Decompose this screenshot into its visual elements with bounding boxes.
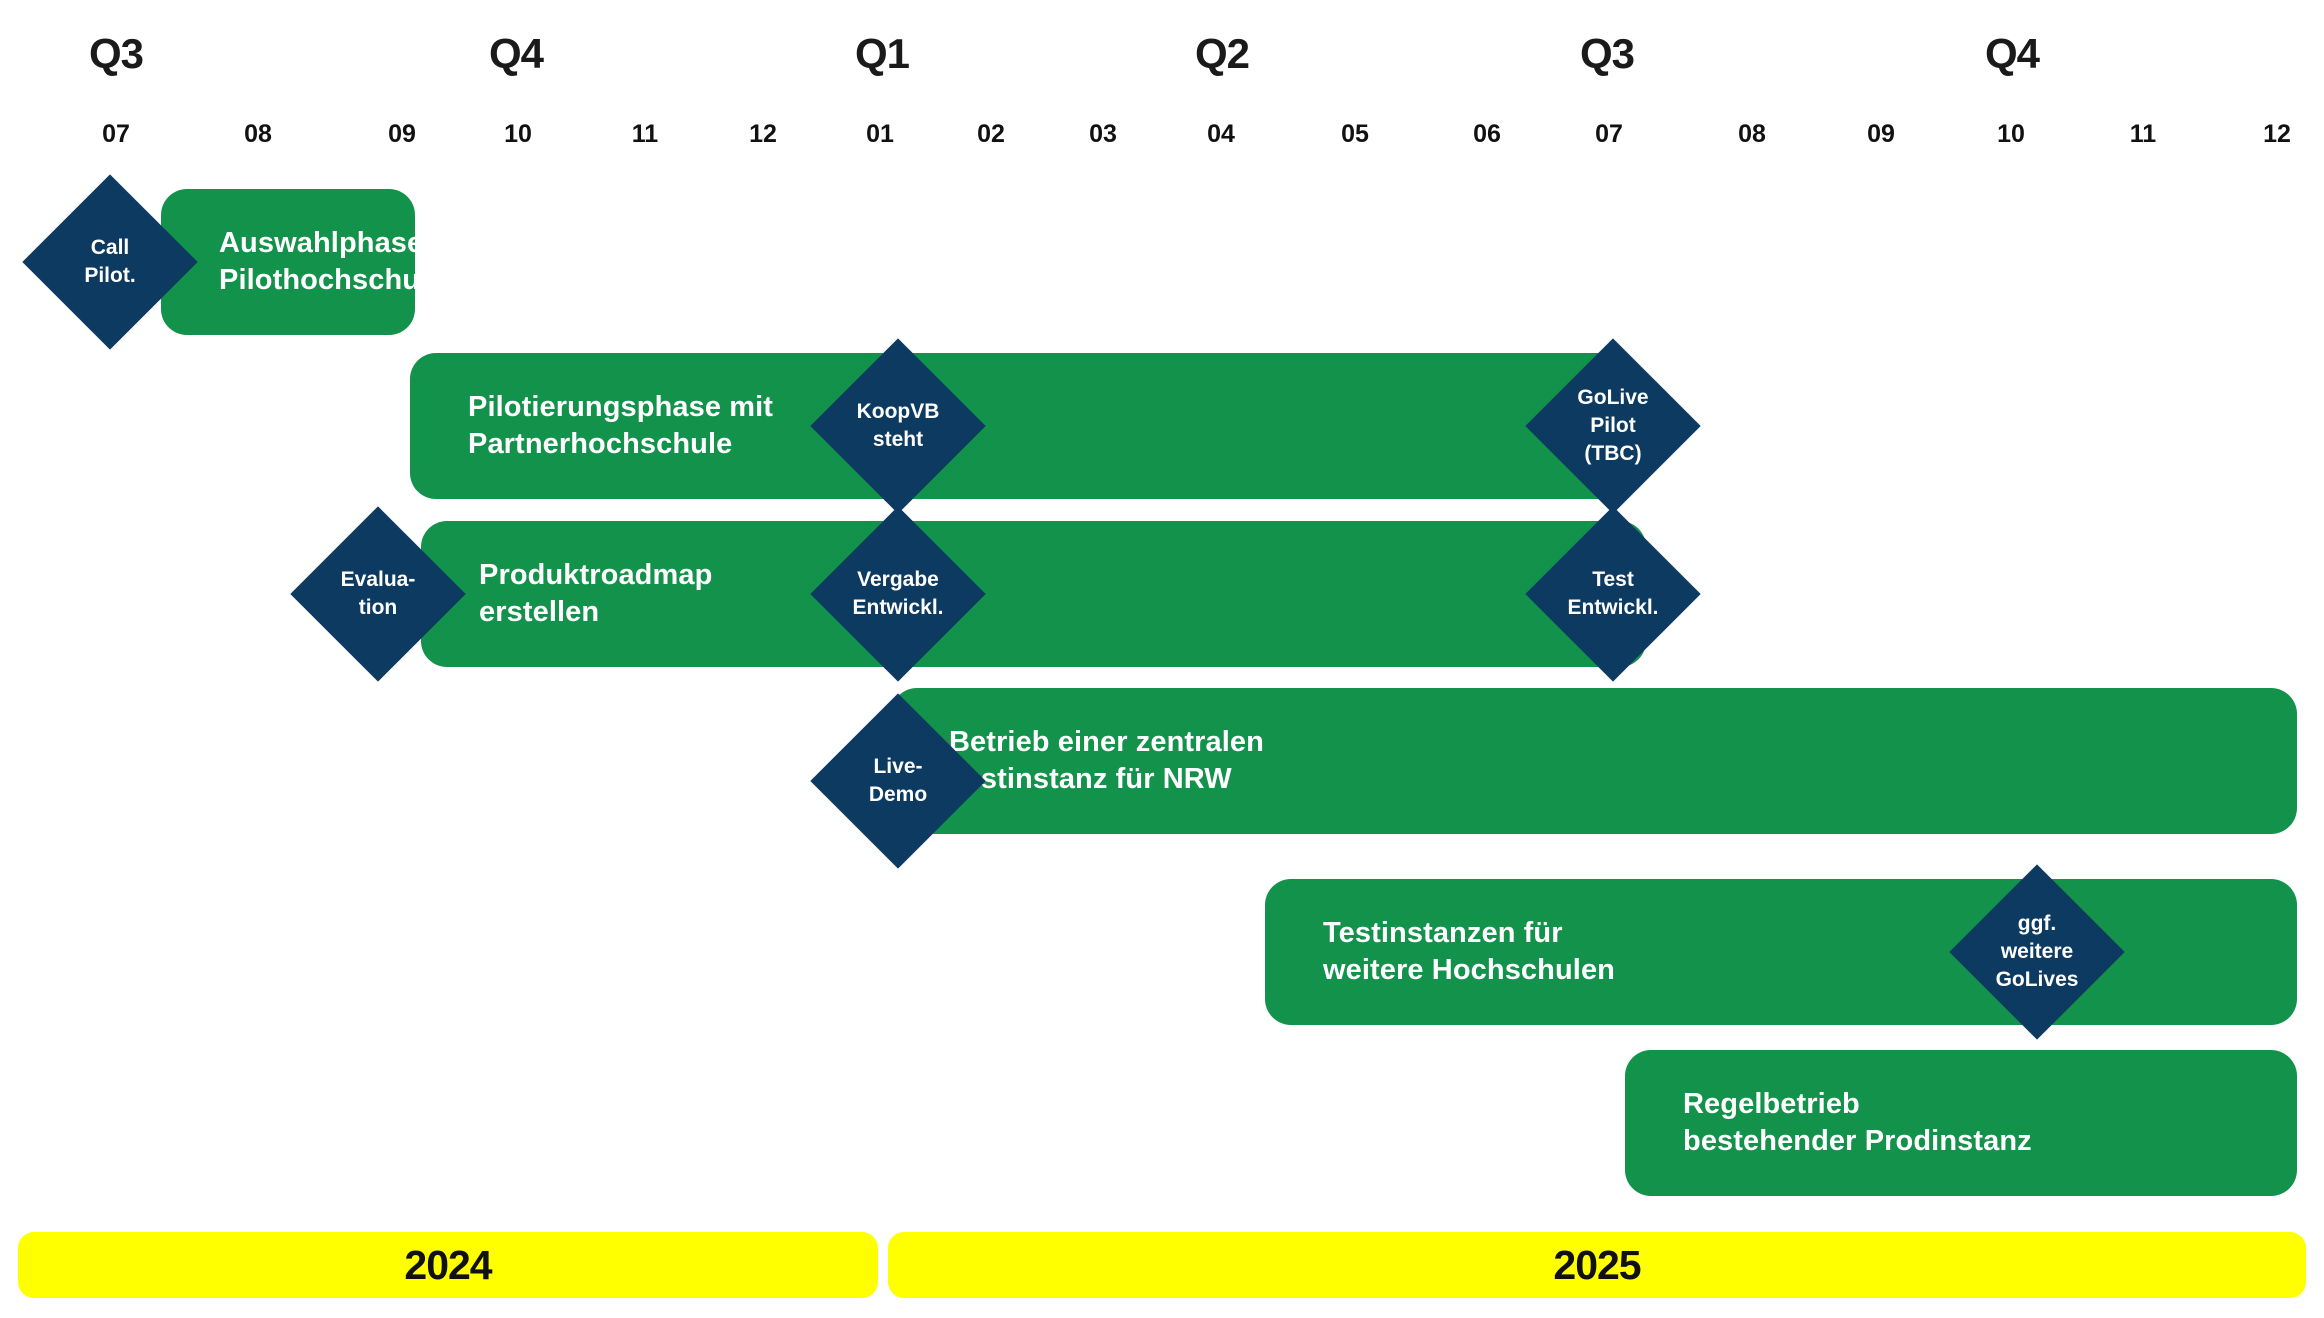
roadmap-timeline: Q3Q4Q1Q2Q3Q4 070809101112010203040506070…	[0, 0, 2324, 1318]
milestone-inner: Live- Demo	[836, 719, 960, 843]
milestone-diamond[interactable]: Test Entwickl.	[1525, 506, 1700, 681]
quarter-label: Q4	[489, 30, 543, 78]
milestone-label: KoopVB steht	[857, 398, 940, 453]
month-label: 01	[866, 120, 894, 149]
milestone-label: Test Entwickl.	[1567, 566, 1658, 621]
quarter-label: Q1	[855, 30, 909, 78]
month-label: 06	[1473, 120, 1501, 149]
milestone-inner: GoLive Pilot (TBC)	[1551, 364, 1675, 488]
milestone-diamond[interactable]: Live- Demo	[810, 693, 985, 868]
task-bar-label: Regelbetrieb bestehender Prodinstanz	[1625, 1086, 2032, 1159]
milestone-label: Evalua- tion	[341, 566, 416, 621]
month-label: 04	[1207, 120, 1235, 149]
milestone-diamond[interactable]: Call Pilot.	[22, 174, 197, 349]
month-label: 07	[1595, 120, 1623, 149]
month-label: 10	[1997, 120, 2025, 149]
month-label: 09	[1867, 120, 1895, 149]
month-label: 10	[504, 120, 532, 149]
milestone-diamond[interactable]: ggf. weitere GoLives	[1949, 864, 2124, 1039]
month-label: 09	[388, 120, 416, 149]
task-bar[interactable]: Auswahlphase Pilothochschule	[161, 189, 415, 335]
year-bar[interactable]: 2025	[888, 1232, 2306, 1298]
milestone-label: ggf. weitere GoLives	[1996, 910, 2079, 993]
month-label: 02	[977, 120, 1005, 149]
quarter-label: Q3	[89, 30, 143, 78]
year-bar[interactable]: 2024	[18, 1232, 878, 1298]
month-label: 07	[102, 120, 130, 149]
task-bar[interactable]: Testinstanzen für weitere Hochschulen	[1265, 879, 2297, 1025]
task-bar-label: Testinstanzen für weitere Hochschulen	[1265, 915, 1615, 988]
milestone-label: Vergabe Entwickl.	[852, 566, 943, 621]
month-label: 12	[749, 120, 777, 149]
quarter-label: Q4	[1985, 30, 2039, 78]
month-label: 08	[244, 120, 272, 149]
milestone-inner: Test Entwickl.	[1551, 532, 1675, 656]
milestone-inner: KoopVB steht	[836, 364, 960, 488]
milestone-inner: Call Pilot.	[48, 200, 172, 324]
year-label: 2024	[404, 1242, 491, 1289]
year-label: 2025	[1553, 1242, 1640, 1289]
month-label: 11	[2130, 120, 2156, 149]
task-bar[interactable]: Produktroadmap erstellen	[421, 521, 1646, 667]
milestone-label: GoLive Pilot (TBC)	[1577, 384, 1648, 467]
milestone-diamond[interactable]: KoopVB steht	[810, 338, 985, 513]
quarter-label: Q2	[1195, 30, 1249, 78]
milestone-diamond[interactable]: Vergabe Entwickl.	[810, 506, 985, 681]
task-bar[interactable]: Pilotierungsphase mit Partnerhochschule	[410, 353, 1635, 499]
milestone-label: Call Pilot.	[84, 234, 135, 289]
task-bar[interactable]: Betrieb einer zentralen Testinstanz für …	[891, 688, 2297, 834]
milestone-diamond[interactable]: Evalua- tion	[290, 506, 465, 681]
milestone-inner: ggf. weitere GoLives	[1975, 890, 2099, 1014]
task-bar-label: Auswahlphase Pilothochschule	[161, 225, 444, 298]
milestone-inner: Vergabe Entwickl.	[836, 532, 960, 656]
task-bar[interactable]: Regelbetrieb bestehender Prodinstanz	[1625, 1050, 2297, 1196]
month-label: 11	[632, 120, 658, 149]
month-label: 05	[1341, 120, 1369, 149]
task-bar-label: Pilotierungsphase mit Partnerhochschule	[410, 389, 773, 462]
month-label: 12	[2263, 120, 2291, 149]
month-label: 08	[1738, 120, 1766, 149]
milestone-diamond[interactable]: GoLive Pilot (TBC)	[1525, 338, 1700, 513]
quarter-label: Q3	[1580, 30, 1634, 78]
milestone-inner: Evalua- tion	[316, 532, 440, 656]
month-label: 03	[1089, 120, 1117, 149]
milestone-label: Live- Demo	[869, 753, 927, 808]
